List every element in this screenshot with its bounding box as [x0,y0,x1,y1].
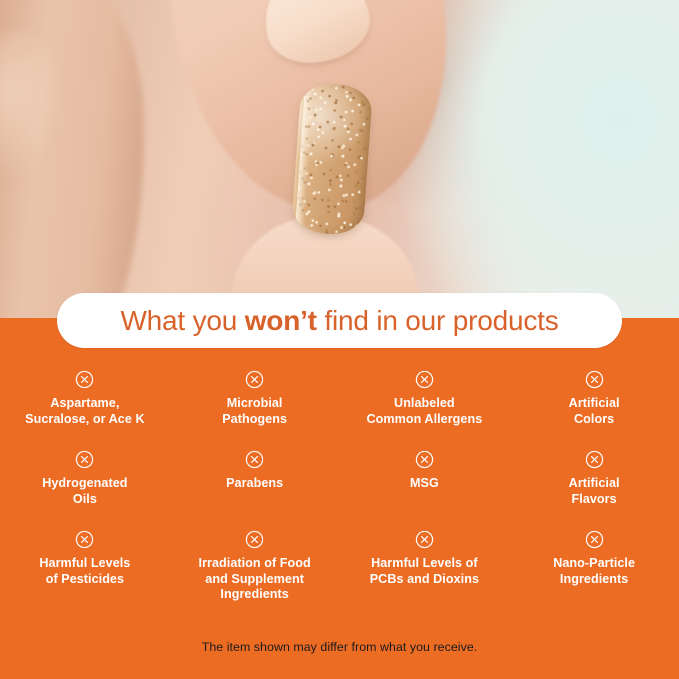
exclusions-row: Aspartame, Sucralose, or Ace K Microbial… [0,370,679,450]
heading-suffix: find in our products [317,305,559,336]
exclusion-label: Parabens [226,476,283,492]
exclusion-item: Artificial Colors [509,370,679,450]
exclusion-item: Harmful Levels of PCBs and Dioxins [340,530,510,626]
heading-emphasis: won’t [245,305,317,336]
circle-x-icon [245,530,264,549]
exclusion-item: Nano-Particle Ingredients [509,530,679,626]
circle-x-icon [415,450,434,469]
circle-x-icon [75,450,94,469]
exclusion-label: Harmful Levels of Pesticides [39,556,130,587]
exclusion-item: Parabens [170,450,340,530]
exclusions-row: Harmful Levels of Pesticides Irradiation… [0,530,679,626]
circle-x-icon [585,450,604,469]
exclusion-label: Artificial Flavors [569,476,620,507]
exclusion-label: Artificial Colors [569,396,620,427]
product-infographic: What you won’t find in our products Aspa… [0,0,679,679]
exclusions-grid: Aspartame, Sucralose, or Ace K Microbial… [0,370,679,626]
exclusion-label: Aspartame, Sucralose, or Ace K [25,396,144,427]
exclusion-item: Irradiation of Food and Supplement Ingre… [170,530,340,626]
exclusion-item: MSG [340,450,510,530]
circle-x-icon [245,450,264,469]
exclusion-label: Harmful Levels of PCBs and Dioxins [370,556,479,587]
hand-icon [0,0,144,318]
circle-x-icon [585,530,604,549]
exclusion-label: Microbial Pathogens [222,396,287,427]
tablet-icon [291,82,373,237]
exclusion-item: Artificial Flavors [509,450,679,530]
circle-x-icon [415,530,434,549]
disclaimer-text: The item shown may differ from what you … [0,640,679,654]
exclusion-item: Hydrogenated Oils [0,450,170,530]
exclusion-label: Nano-Particle Ingredients [553,556,635,587]
product-photo [0,0,679,318]
heading-prefix: What you [120,305,244,336]
exclusions-panel: Aspartame, Sucralose, or Ace K Microbial… [0,318,679,679]
exclusion-label: Hydrogenated Oils [42,476,127,507]
circle-x-icon [75,530,94,549]
page-title: What you won’t find in our products [120,305,558,337]
exclusion-item: Microbial Pathogens [170,370,340,450]
circle-x-icon [245,370,264,389]
exclusion-label: MSG [410,476,439,492]
exclusion-item: Aspartame, Sucralose, or Ace K [0,370,170,450]
exclusion-item: Unlabeled Common Allergens [340,370,510,450]
exclusions-row: Hydrogenated Oils Parabens MSG Artificia… [0,450,679,530]
circle-x-icon [415,370,434,389]
circle-x-icon [585,370,604,389]
heading-banner: What you won’t find in our products [57,293,622,348]
exclusion-label: Unlabeled Common Allergens [366,396,482,427]
exclusion-item: Harmful Levels of Pesticides [0,530,170,626]
exclusion-label: Irradiation of Food and Supplement Ingre… [199,556,311,603]
circle-x-icon [75,370,94,389]
